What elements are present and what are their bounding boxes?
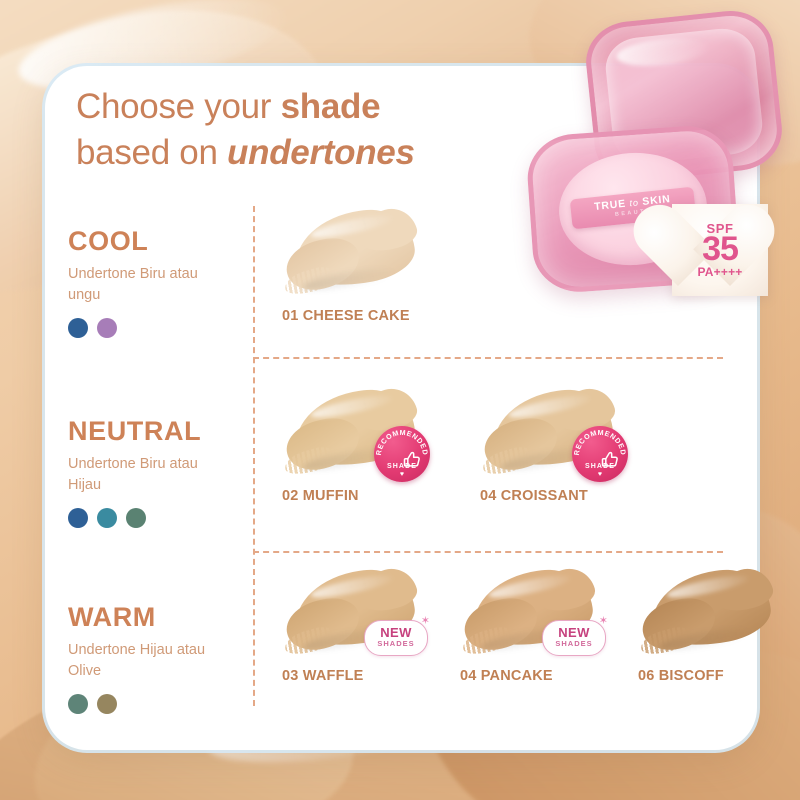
undertone-subtitle-cool: Undertone Biru atau ungu — [68, 264, 228, 305]
vertical-divider — [253, 206, 255, 706]
new-shades-badge-line-1: NEW — [365, 626, 427, 639]
shade-swatch: RECOMMENDED SHADE ♥ — [480, 386, 620, 478]
shade-label: 04 CROISSANT — [480, 488, 620, 504]
shade-item[interactable]: RECOMMENDED SHADE ♥ 02 MUFFIN — [282, 386, 422, 504]
new-shades-badge: NEW SHADES ✶ — [364, 620, 428, 656]
recommended-shade-badge: RECOMMENDED SHADE ♥ — [572, 426, 628, 482]
undertone-dot — [97, 318, 117, 338]
shade-label: 03 WAFFLE — [282, 668, 422, 684]
undertone-dot — [97, 508, 117, 528]
spf-value: 35 — [672, 232, 768, 266]
star-icon: ✶ — [421, 616, 430, 627]
shade-item[interactable]: 06 BISCOFF — [638, 566, 778, 684]
recommended-badge-subtext: SHADE — [572, 463, 628, 470]
shade-label: 02 MUFFIN — [282, 488, 422, 504]
heart-icon: ♥ — [598, 471, 602, 478]
recommended-badge-subtext: SHADE — [374, 463, 430, 470]
spf-pa-rating: PA++++ — [672, 266, 768, 278]
page-title-line-2-plain: based on — [76, 133, 227, 172]
product-compact-image: TRUE to SKIN BEAUTY SPF 35 PA++++ — [512, 8, 780, 278]
shade-item[interactable]: NEW SHADES ✶ 04 PANCAKE — [460, 566, 600, 684]
row-divider-cool-neutral — [253, 357, 723, 359]
undertone-swatch-dots-warm — [68, 694, 244, 714]
shade-row-warm: NEW SHADES ✶ 03 WAFFLE NEW SHADES ✶ 04 P… — [282, 566, 778, 684]
shade-swatch: NEW SHADES ✶ — [460, 566, 600, 658]
undertone-swatch-dots-neutral — [68, 508, 244, 528]
undertone-dot — [68, 508, 88, 528]
page-title-line-2-italic: undertones — [227, 133, 415, 172]
shade-swatch: NEW SHADES ✶ — [282, 566, 422, 658]
page-title: Choose your shade based on undertones — [76, 84, 546, 176]
shade-item[interactable]: NEW SHADES ✶ 03 WAFFLE — [282, 566, 422, 684]
spf-heart-badge: SPF 35 PA++++ — [672, 204, 768, 296]
undertone-subtitle-warm: Undertone Hijau atau Olive — [68, 640, 228, 681]
shade-label: 01 CHEESE CAKE — [282, 308, 422, 324]
undertone-group-warm: WARM Undertone Hijau atau Olive — [68, 604, 244, 714]
heart-icon: ♥ — [400, 471, 404, 478]
new-shades-badge: NEW SHADES ✶ — [542, 620, 606, 656]
star-icon: ✶ — [599, 616, 608, 627]
undertone-group-cool: COOL Undertone Biru atau ungu — [68, 228, 244, 338]
recommended-shade-badge: RECOMMENDED SHADE ♥ — [374, 426, 430, 482]
shade-swatch: RECOMMENDED SHADE ♥ — [282, 386, 422, 478]
spf-text-group: SPF 35 PA++++ — [672, 204, 768, 296]
page-title-line-1: Choose your shade — [76, 84, 546, 130]
page-title-line-1-plain: Choose your — [76, 87, 281, 126]
undertone-title-warm: WARM — [68, 604, 244, 631]
brand-name-mid: to — [629, 197, 639, 208]
undertone-title-cool: COOL — [68, 228, 244, 255]
undertone-dot — [97, 694, 117, 714]
shade-item[interactable]: RECOMMENDED SHADE ♥ 04 CROISSANT — [480, 386, 620, 504]
undertone-swatch-dots-cool — [68, 318, 244, 338]
shade-swatch — [638, 566, 778, 658]
shade-row-neutral: RECOMMENDED SHADE ♥ 02 MUFFIN — [282, 386, 620, 504]
undertone-dot — [68, 694, 88, 714]
new-shades-badge-line-1: NEW — [543, 626, 605, 639]
shade-row-cool: 01 CHEESE CAKE — [282, 206, 422, 324]
foundation-smear — [642, 570, 774, 654]
foundation-smear — [286, 210, 418, 294]
row-divider-neutral-warm — [253, 551, 723, 553]
page-title-line-1-bold: shade — [281, 87, 381, 126]
undertone-group-neutral: NEUTRAL Undertone Biru atau Hijau — [68, 418, 244, 528]
undertone-title-neutral: NEUTRAL — [68, 418, 244, 445]
shade-swatch — [282, 206, 422, 298]
shade-label: 06 BISCOFF — [638, 668, 778, 684]
shade-item[interactable]: 01 CHEESE CAKE — [282, 206, 422, 324]
shade-label: 04 PANCAKE — [460, 668, 600, 684]
undertone-dot — [126, 508, 146, 528]
new-shades-badge-line-2: SHADES — [543, 640, 605, 648]
new-shades-badge-line-2: SHADES — [365, 640, 427, 648]
page-title-line-2: based on undertones — [76, 130, 546, 176]
undertone-dot — [68, 318, 88, 338]
undertone-subtitle-neutral: Undertone Biru atau Hijau — [68, 454, 228, 495]
